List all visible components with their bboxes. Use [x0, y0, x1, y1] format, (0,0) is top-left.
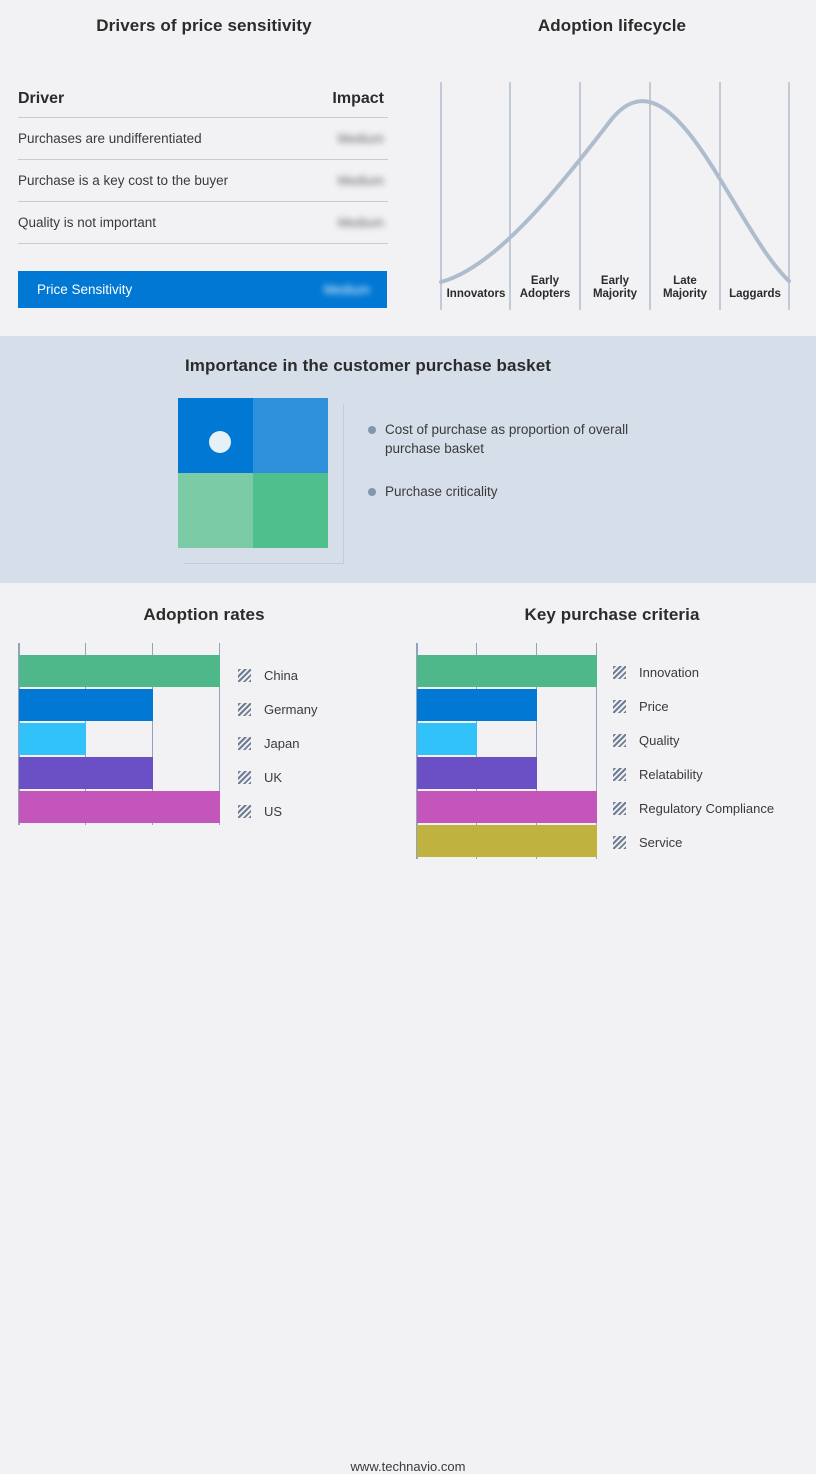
- lifecycle-stage-laggards: Laggards: [720, 288, 790, 301]
- legend-label: Cost of purchase as proportion of overal…: [385, 420, 668, 458]
- column-header-driver: Driver: [18, 90, 64, 108]
- legend-label: Relatability: [639, 767, 703, 782]
- adoption-lifecycle-panel: Adoption lifecycle Innovators E: [408, 0, 816, 336]
- drivers-title: Drivers of price sensitivity: [0, 16, 408, 36]
- key-purchase-criteria-bars: [417, 655, 621, 859]
- list-item: Regulatory Compliance: [613, 791, 774, 825]
- adoption-rates-title: Adoption rates: [0, 605, 408, 625]
- bar-row-china: [19, 655, 223, 687]
- column-header-impact: Impact: [332, 90, 384, 108]
- table-row: Purchases are undifferentiated Medium: [18, 118, 388, 160]
- legend-label: Regulatory Compliance: [639, 801, 774, 816]
- bar-row-quality: [417, 723, 621, 755]
- legend-label: US: [264, 804, 282, 819]
- adoption-rates-legend: China Germany Japan UK US: [238, 658, 317, 828]
- list-item: UK: [238, 760, 317, 794]
- purchase-basket-quadrant-chart: [178, 398, 344, 564]
- hatch-swatch-icon: [613, 802, 626, 815]
- key-purchase-criteria-title: Key purchase criteria: [408, 605, 816, 625]
- impact-value-redacted: Medium: [324, 282, 370, 297]
- quadrant-grid: [178, 398, 328, 548]
- quadrant-cell-bottom-right: [253, 473, 328, 548]
- lifecycle-stage-early-majority: Early Majority: [580, 275, 650, 301]
- hatch-swatch-icon: [238, 703, 251, 716]
- purchase-basket-title: Importance in the customer purchase bask…: [0, 356, 736, 376]
- legend-label: Japan: [264, 736, 299, 751]
- table-row: Purchase is a key cost to the buyer Medi…: [18, 160, 388, 202]
- table-row: Quality is not important Medium: [18, 202, 388, 244]
- list-item: Service: [613, 825, 774, 859]
- hatch-swatch-icon: [613, 700, 626, 713]
- hatch-swatch-icon: [613, 666, 626, 679]
- legend-label: Purchase criticality: [385, 482, 498, 501]
- bar-row-uk: [19, 757, 223, 789]
- legend-label: China: [264, 668, 298, 683]
- list-item: US: [238, 794, 317, 828]
- footer-url[interactable]: www.technavio.com: [0, 1459, 816, 1474]
- legend-label: Germany: [264, 702, 317, 717]
- list-item: Innovation: [613, 655, 774, 689]
- hatch-swatch-icon: [613, 734, 626, 747]
- driver-label: Purchases are undifferentiated: [18, 131, 202, 146]
- hatch-swatch-icon: [238, 771, 251, 784]
- drivers-table: Driver Impact Purchases are undifferenti…: [18, 90, 388, 244]
- hatch-swatch-icon: [238, 669, 251, 682]
- lifecycle-bell-curve: [441, 101, 789, 282]
- impact-value-redacted: Medium: [338, 173, 384, 188]
- bar-row-us: [19, 791, 223, 823]
- list-item: Quality: [613, 723, 774, 757]
- bar-row-relatability: [417, 757, 621, 789]
- driver-label: Purchase is a key cost to the buyer: [18, 173, 228, 188]
- list-item: Cost of purchase as proportion of overal…: [368, 420, 668, 458]
- list-item: Germany: [238, 692, 317, 726]
- purchase-basket-section: Importance in the customer purchase bask…: [0, 336, 816, 583]
- adoption-lifecycle-chart: Innovators Early Adopters Early Majority…: [433, 78, 791, 316]
- bar-row-germany: [19, 689, 223, 721]
- bullet-icon: [368, 426, 376, 434]
- key-purchase-criteria-chart: [416, 643, 621, 859]
- lifecycle-stage-innovators: Innovators: [441, 288, 511, 301]
- hatch-swatch-icon: [238, 737, 251, 750]
- list-item: Price: [613, 689, 774, 723]
- bar-row-price: [417, 689, 621, 721]
- bar-row-innovation: [417, 655, 621, 687]
- key-purchase-criteria-legend: Innovation Price Quality Relatability Re…: [613, 655, 774, 859]
- driver-label: Price Sensitivity: [37, 282, 132, 297]
- table-row-highlighted-price-sensitivity: Price Sensitivity Medium: [18, 271, 387, 308]
- hatch-swatch-icon: [613, 836, 626, 849]
- list-item: Relatability: [613, 757, 774, 791]
- list-item: China: [238, 658, 317, 692]
- legend-label: Innovation: [639, 665, 699, 680]
- adoption-rates-chart: [18, 643, 223, 825]
- lifecycle-stage-late-majority: Late Majority: [650, 275, 720, 301]
- top-section: Drivers of price sensitivity Driver Impa…: [0, 0, 816, 336]
- bar-row-service: [417, 825, 621, 857]
- drivers-panel: Drivers of price sensitivity Driver Impa…: [0, 0, 408, 336]
- legend-label: Quality: [639, 733, 679, 748]
- hatch-swatch-icon: [238, 805, 251, 818]
- impact-value-redacted: Medium: [338, 131, 384, 146]
- list-item: Purchase criticality: [368, 482, 668, 501]
- quadrant-cell-bottom-left: [178, 473, 253, 548]
- quadrant-position-marker: [209, 431, 231, 453]
- adoption-rates-bars: [19, 655, 223, 825]
- purchase-basket-legend: Cost of purchase as proportion of overal…: [368, 420, 668, 525]
- quadrant-cell-top-right: [253, 398, 328, 473]
- bar-row-regulatory-compliance: [417, 791, 621, 823]
- bullet-icon: [368, 488, 376, 496]
- key-purchase-criteria-panel: Key purchase criteria Innovation: [408, 583, 816, 873]
- legend-label: Price: [639, 699, 669, 714]
- adoption-rates-panel: Adoption rates China: [0, 583, 408, 873]
- drivers-table-header: Driver Impact: [18, 90, 388, 118]
- legend-label: Service: [639, 835, 682, 850]
- lifecycle-stage-early-adopters: Early Adopters: [510, 275, 580, 301]
- legend-label: UK: [264, 770, 282, 785]
- bottom-section: Adoption rates China: [0, 583, 816, 902]
- hatch-swatch-icon: [613, 768, 626, 781]
- list-item: Japan: [238, 726, 317, 760]
- adoption-lifecycle-title: Adoption lifecycle: [408, 16, 816, 36]
- driver-label: Quality is not important: [18, 215, 156, 230]
- impact-value-redacted: Medium: [338, 215, 384, 230]
- bar-row-japan: [19, 723, 223, 755]
